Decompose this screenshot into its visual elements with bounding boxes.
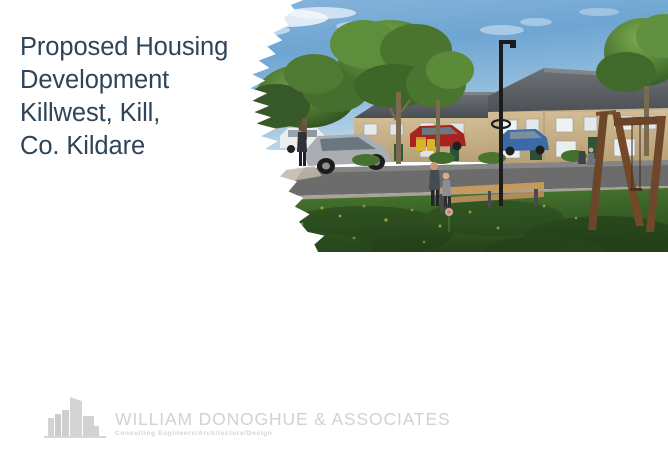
title-line-2: Development — [20, 64, 252, 97]
title-line-4: Co. Kildare — [20, 130, 252, 163]
page-title: Proposed Housing Development Killwest, K… — [20, 31, 252, 163]
company-logo: WILLIAM DONOGHUE & ASSOCIATES Consulting… — [44, 396, 451, 442]
housing-development-render — [244, 0, 668, 252]
title-line-1: Proposed Housing — [20, 31, 252, 64]
wheelie-bins — [416, 137, 435, 151]
title-line-3: Killwest, Kill, — [20, 97, 252, 130]
render-illustration — [244, 0, 668, 252]
presentation-slide: Proposed Housing Development Killwest, K… — [0, 0, 668, 471]
logo-text: WILLIAM DONOGHUE & ASSOCIATES Consulting… — [115, 410, 451, 442]
building-skyline-icon — [44, 396, 106, 442]
logo-company-name: WILLIAM DONOGHUE & ASSOCIATES — [115, 410, 451, 429]
logo-tagline: Consulting Engineers/Architecture/Design — [115, 429, 451, 439]
